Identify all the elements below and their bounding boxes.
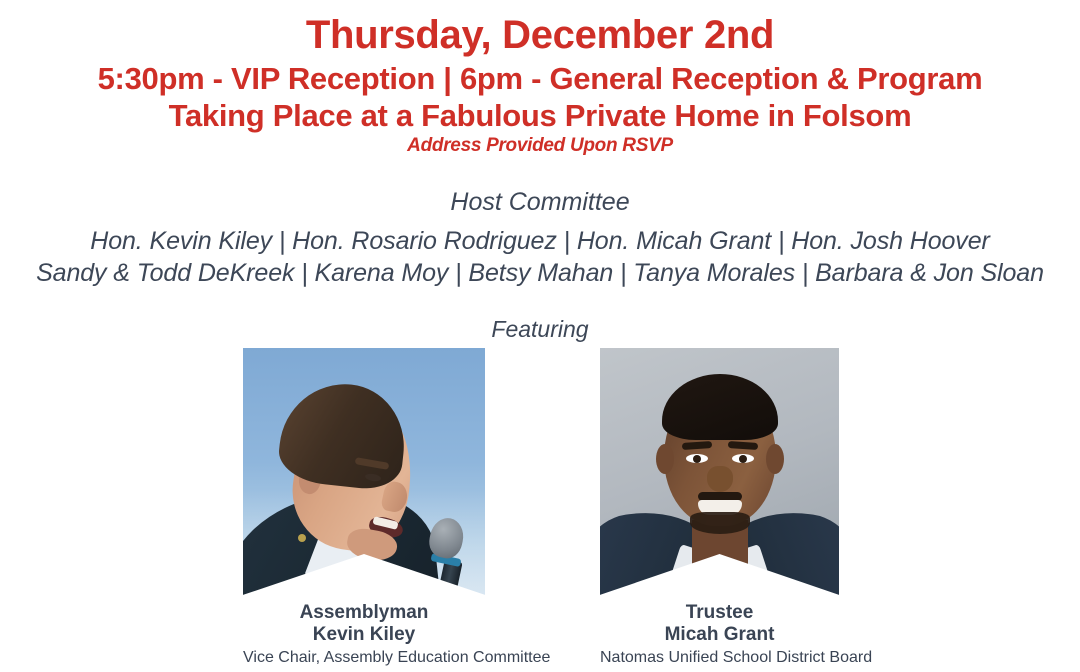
featuring-label: Featuring xyxy=(0,316,1080,343)
host-committee-row-2: Sandy & Todd DeKreek | Karena Moy | Bets… xyxy=(0,257,1080,290)
pupil-left-shape xyxy=(693,455,701,463)
event-location: Taking Place at a Fabulous Private Home … xyxy=(0,99,1080,132)
hair-shape xyxy=(662,374,778,440)
beard-shape xyxy=(690,512,750,534)
event-times: 5:30pm - VIP Reception | 6pm - General R… xyxy=(0,62,1080,95)
speaker-role: Trustee xyxy=(600,602,839,624)
hair-shape xyxy=(276,378,410,492)
speaker-photo-kevin-kiley xyxy=(243,348,485,620)
speaker-name: Micah Grant xyxy=(600,624,839,646)
lapel-pin-icon xyxy=(298,534,306,542)
speaker-name: Kevin Kiley xyxy=(243,624,485,646)
featured-speakers: Assemblyman Kevin Kiley Vice Chair, Asse… xyxy=(0,348,1080,672)
event-date: Thursday, December 2nd xyxy=(0,14,1080,57)
ear-right-shape xyxy=(766,444,784,474)
speaker-subtitle: Natomas Unified School District Board xyxy=(600,649,839,668)
speaker-card-kevin-kiley: Assemblyman Kevin Kiley Vice Chair, Asse… xyxy=(243,348,485,620)
pupil-right-shape xyxy=(739,455,747,463)
speaker-caption-kevin-kiley: Assemblyman Kevin Kiley Vice Chair, Asse… xyxy=(243,602,485,668)
rsvp-note: Address Provided Upon RSVP xyxy=(0,136,1080,157)
event-header: Thursday, December 2nd 5:30pm - VIP Rece… xyxy=(0,0,1080,157)
speaker-subtitle: Vice Chair, Assembly Education Committee xyxy=(243,649,485,668)
speaker-role: Assemblyman xyxy=(243,602,485,624)
speaker-photo-micah-grant xyxy=(600,348,839,620)
host-committee-section: Host Committee Hon. Kevin Kiley | Hon. R… xyxy=(0,187,1080,290)
ear-left-shape xyxy=(656,444,674,474)
speaker-caption-micah-grant: Trustee Micah Grant Natomas Unified Scho… xyxy=(600,602,839,668)
nose-shape xyxy=(707,466,733,492)
speaker-card-micah-grant: Trustee Micah Grant Natomas Unified Scho… xyxy=(600,348,839,620)
host-committee-row-1: Hon. Kevin Kiley | Hon. Rosario Rodrigue… xyxy=(0,225,1080,258)
host-committee-title: Host Committee xyxy=(0,187,1080,218)
event-invitation-flyer: Thursday, December 2nd 5:30pm - VIP Rece… xyxy=(0,0,1080,672)
